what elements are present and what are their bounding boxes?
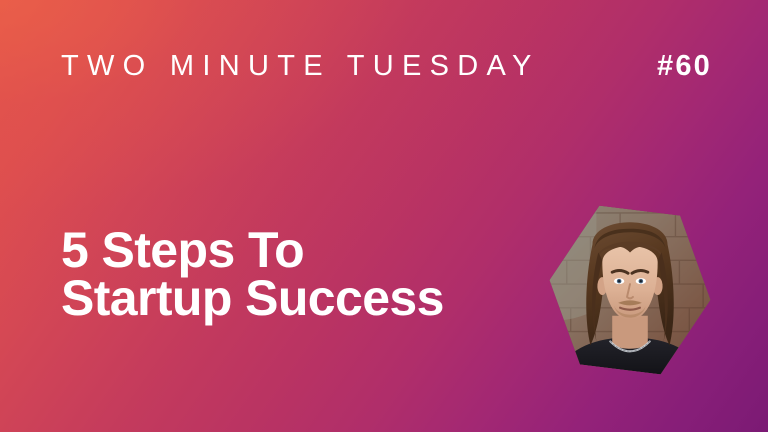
title-line-2: Startup Success bbox=[61, 274, 444, 322]
series-label: TWO MINUTE TUESDAY bbox=[61, 50, 540, 82]
issue-number-badge: #60 bbox=[657, 50, 712, 82]
page-title: 5 Steps To Startup Success bbox=[61, 226, 444, 322]
social-card: TWO MINUTE TUESDAY #60 5 Steps To Startu… bbox=[0, 0, 768, 432]
avatar bbox=[540, 201, 720, 380]
title-line-1: 5 Steps To bbox=[61, 226, 444, 274]
hexagon-avatar-icon bbox=[540, 201, 720, 380]
avatar-photo bbox=[540, 201, 720, 380]
card-content: TWO MINUTE TUESDAY #60 5 Steps To Startu… bbox=[0, 0, 768, 432]
